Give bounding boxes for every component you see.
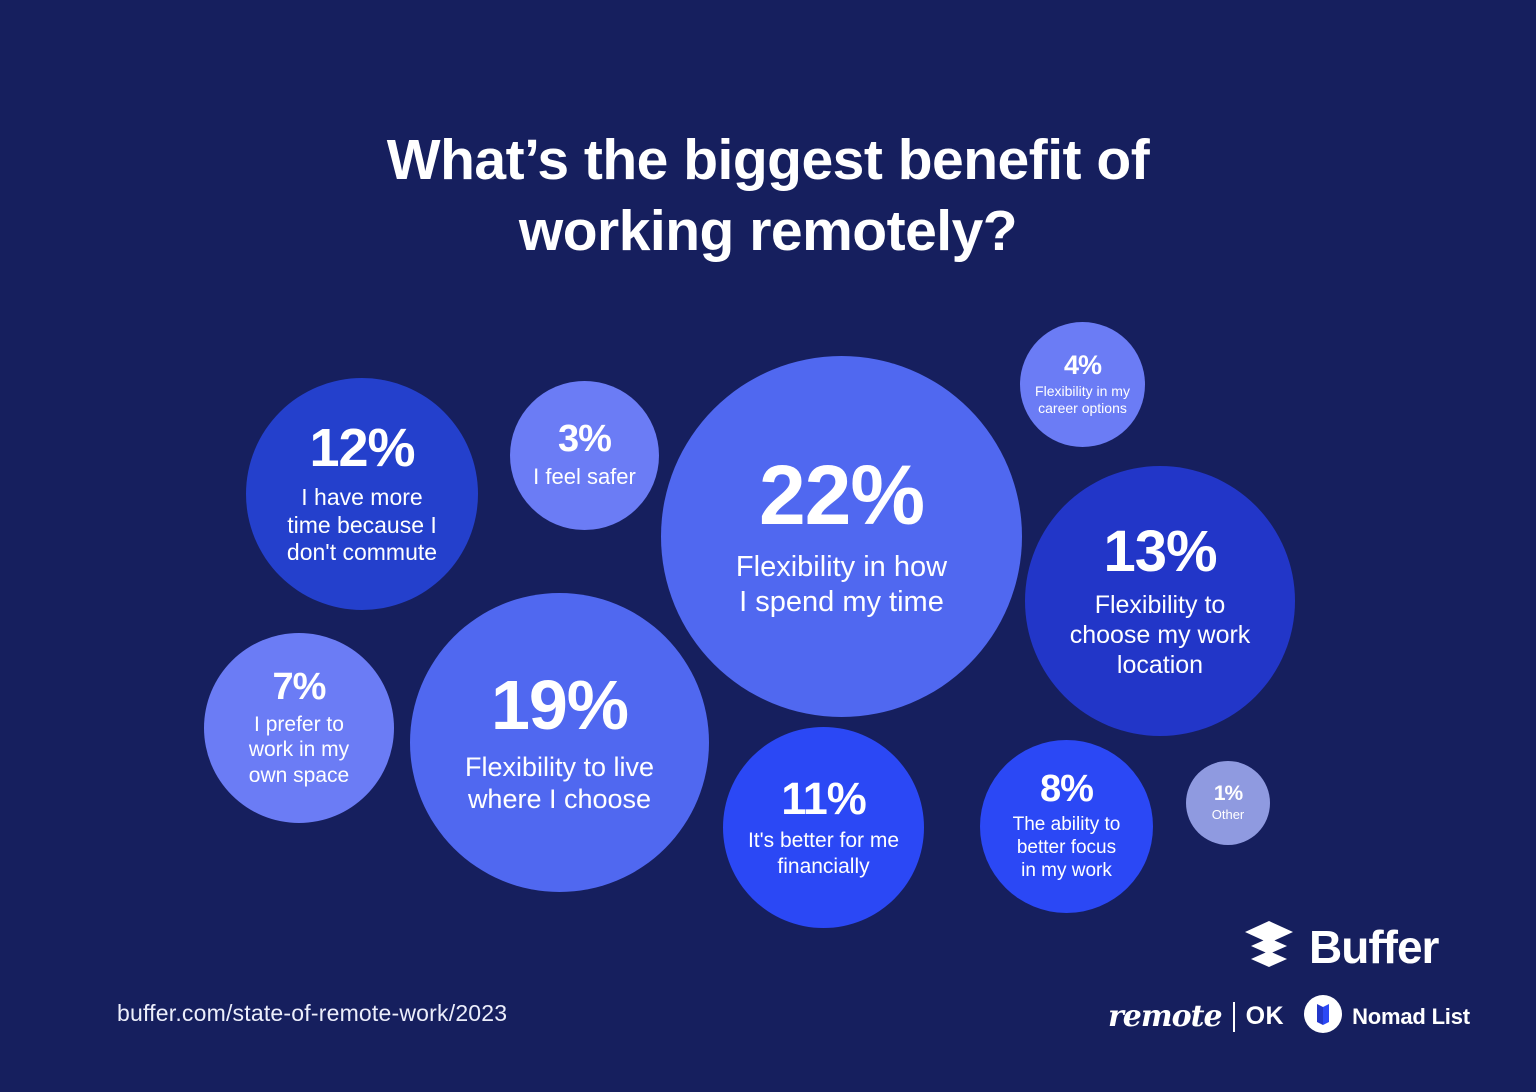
- bubble-label: I have more time because I don't commute: [287, 484, 437, 567]
- bubble-label: I feel safer: [533, 464, 636, 490]
- remote-ok-ok-word: OK: [1246, 1004, 1285, 1029]
- bubble-percent: 22%: [759, 453, 924, 537]
- bubble-percent: 8%: [1040, 770, 1093, 808]
- infographic-canvas: What’s the biggest benefit of working re…: [0, 0, 1536, 1092]
- source-url: buffer.com/state-of-remote-work/2023: [117, 1000, 507, 1027]
- bubble-percent: 7%: [273, 668, 326, 706]
- nomad-list-map-icon: [1304, 995, 1342, 1038]
- bubble-financial: 11%It's better for me financially: [723, 727, 924, 928]
- bubble-percent: 11%: [781, 776, 866, 821]
- page-title: What’s the biggest benefit of working re…: [0, 125, 1536, 266]
- remote-ok-logo: remote OK: [1108, 1002, 1284, 1032]
- bubble-own-space: 7%I prefer to work in my own space: [204, 633, 394, 823]
- bubble-percent: 1%: [1214, 783, 1242, 804]
- buffer-logo: Buffer: [1243, 920, 1438, 973]
- nomad-list-logo: Nomad List: [1304, 995, 1470, 1038]
- bubble-percent: 13%: [1103, 523, 1216, 581]
- bubble-percent: 4%: [1064, 352, 1101, 379]
- bubble-safer: 3%I feel safer: [510, 381, 659, 530]
- bubble-focus: 8%The ability to better focus in my work: [980, 740, 1153, 913]
- remote-ok-divider: [1233, 1002, 1235, 1032]
- bubble-label: The ability to better focus in my work: [1013, 814, 1121, 882]
- bubble-label: Flexibility to choose my work location: [1070, 590, 1251, 680]
- bubble-percent: 3%: [558, 420, 611, 458]
- bubble-work-location: 13%Flexibility to choose my work locatio…: [1025, 466, 1295, 736]
- bubble-label: I prefer to work in my own space: [249, 712, 349, 788]
- bubble-label: Other: [1212, 807, 1245, 823]
- bubble-other: 1%Other: [1186, 761, 1270, 845]
- partner-logos: remote OK Nomad List: [1108, 995, 1470, 1038]
- bubble-career-options: 4%Flexibility in my career options: [1020, 322, 1145, 447]
- bubble-label: Flexibility in my career options: [1035, 383, 1130, 417]
- bubble-percent: 12%: [309, 421, 414, 475]
- nomad-list-wordmark: Nomad List: [1352, 1006, 1470, 1028]
- remote-ok-remote-word: remote: [1108, 1002, 1222, 1032]
- bubble-commute: 12%I have more time because I don't comm…: [246, 378, 478, 610]
- bubble-label: It's better for me financially: [748, 828, 899, 878]
- bubble-label: Flexibility in how I spend my time: [736, 550, 947, 620]
- buffer-layers-icon: [1243, 920, 1295, 973]
- bubble-live-where: 19%Flexibility to live where I choose: [410, 593, 709, 892]
- bubble-time-flexibility: 22%Flexibility in how I spend my time: [661, 356, 1022, 717]
- bubble-percent: 19%: [491, 670, 628, 740]
- bubble-label: Flexibility to live where I choose: [465, 751, 654, 816]
- buffer-wordmark: Buffer: [1309, 924, 1438, 970]
